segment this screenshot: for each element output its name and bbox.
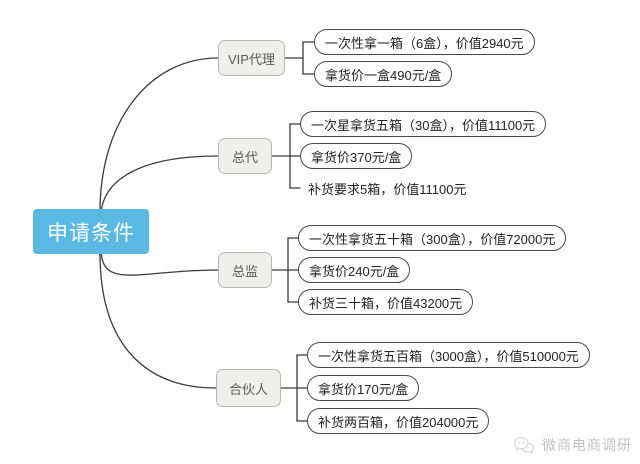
branch-node-hehuoren[interactable]: 合伙人	[216, 369, 281, 407]
leaf-label: 补货三十箱，价值43200元	[309, 293, 462, 312]
leaf-node-hehuoren-1[interactable]: 拿货价170元/盒	[307, 375, 419, 401]
leaf-label: 拿货价370元/盒	[311, 147, 401, 166]
leaf-node-zongjian-0[interactable]: 一次性拿货五十箱（300盒），价值72000元	[298, 225, 566, 251]
leaf-label: 补货两百箱，价值204000元	[318, 412, 478, 431]
watermark-text: 微商电商调研	[542, 435, 632, 455]
branch-node-zongjian[interactable]: 总监	[218, 252, 272, 288]
leaf-node-hehuoren-2[interactable]: 补货两百箱，价值204000元	[307, 408, 489, 434]
edge-root-to-vip	[100, 58, 218, 212]
mindmap-canvas: 申请条件 VIP代理 一次性拿一箱（6盒），价值2940元 拿货价一盒490元/…	[0, 0, 640, 464]
leaf-label: 拿货价170元/盒	[318, 379, 408, 398]
leaf-label: 一次性拿一箱（6盒），价值2940元	[325, 33, 524, 52]
branch-node-vip[interactable]: VIP代理	[218, 40, 285, 76]
leaf-label: 一次星拿货五箱（30盒），价值11100元	[311, 115, 535, 134]
branch-label-vip: VIP代理	[228, 49, 275, 68]
leaf-label: 拿货价240元/盒	[309, 261, 399, 280]
leaf-label: 补货要求5箱，价值11100元	[308, 179, 466, 198]
root-node[interactable]: 申请条件	[33, 209, 149, 254]
leaf-label: 一次性拿货五百箱（3000盒），价值510000元	[318, 346, 579, 365]
edge-root-to-zongdai	[101, 156, 218, 214]
leaf-node-vip-1[interactable]: 拿货价一盒490元/盒	[314, 61, 452, 87]
branch-label-hehuoren: 合伙人	[229, 379, 268, 398]
leaf-label: 一次性拿货五十箱（300盒），价值72000元	[309, 229, 555, 248]
edge-root-to-zongjian	[101, 251, 218, 275]
leaf-label: 拿货价一盒490元/盒	[325, 65, 441, 84]
leaf-node-zongdai-0[interactable]: 一次星拿货五箱（30盒），价值11100元	[300, 111, 546, 137]
branch-label-zongjian: 总监	[232, 261, 258, 280]
watermark: 微商电商调研	[513, 435, 632, 455]
branch-node-zongdai[interactable]: 总代	[218, 138, 272, 174]
root-node-label: 申请条件	[47, 217, 135, 247]
edge-root-to-hehuoren	[100, 253, 216, 388]
leaf-node-zongdai-1[interactable]: 拿货价370元/盒	[300, 143, 412, 169]
chat-bubble-logo-icon	[513, 436, 535, 454]
leaf-node-hehuoren-0[interactable]: 一次性拿货五百箱（3000盒），价值510000元	[307, 342, 590, 368]
branch-label-zongdai: 总代	[232, 147, 258, 166]
leaf-node-zongjian-2[interactable]: 补货三十箱，价值43200元	[298, 289, 473, 315]
leaf-node-zongjian-1[interactable]: 拿货价240元/盒	[298, 257, 410, 283]
leaf-node-zongdai-2[interactable]: 补货要求5箱，价值11100元	[300, 175, 476, 201]
leaf-node-vip-0[interactable]: 一次性拿一箱（6盒），价值2940元	[314, 29, 535, 55]
